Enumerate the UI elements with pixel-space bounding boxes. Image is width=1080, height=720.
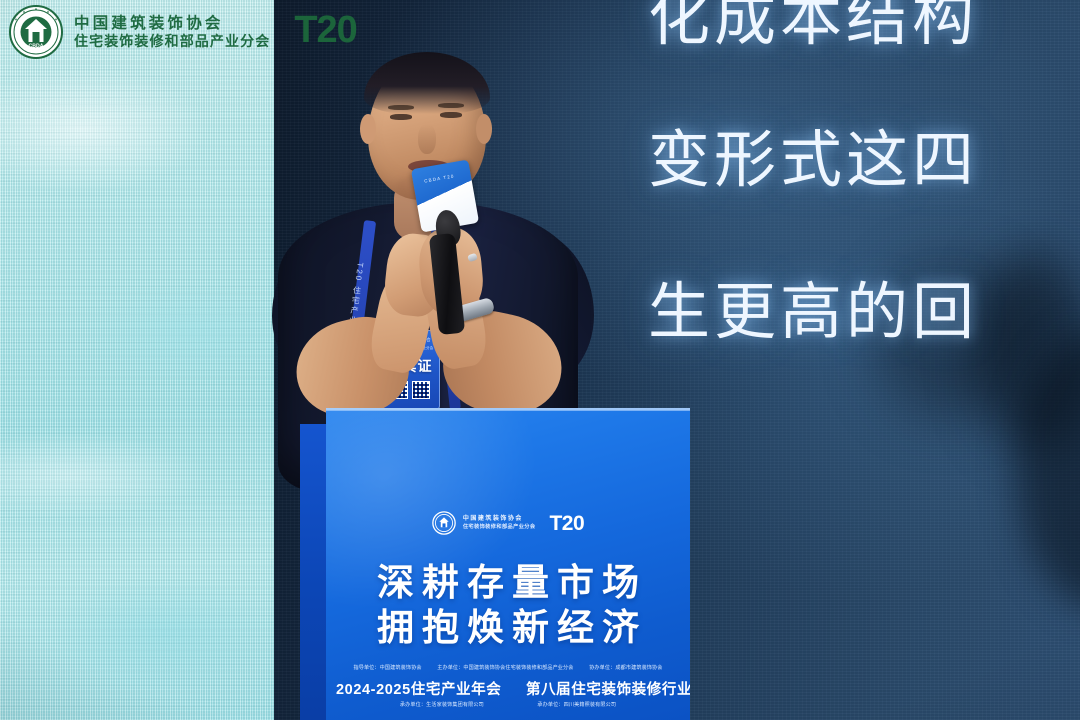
podium-t20-brand-mark: T20 bbox=[549, 513, 584, 534]
header-logo-lockup: CBDA 中国建筑装饰协会 住宅装饰装修和部品产业分会 T20 bbox=[8, 4, 357, 60]
podium-credit-coorganizer: 协办单位：成都市建筑装饰协会 bbox=[589, 665, 662, 671]
podium-association-line-2: 住宅装饰装修和部品产业分会 bbox=[463, 524, 536, 531]
screen-subtitle-line-1: 化成本结构 bbox=[648, 0, 978, 50]
t20-brand-mark: T20 bbox=[294, 11, 356, 49]
svg-text:CBDA: CBDA bbox=[29, 44, 44, 50]
led-wall-left-cyan bbox=[0, 0, 274, 720]
podium-headline-line-1: 深耕存量市场 bbox=[326, 560, 690, 605]
podium-event-titles: 2024-2025住宅产业年会 第八届住宅装饰装修行业T20大会 bbox=[326, 678, 690, 699]
microphone-body bbox=[429, 233, 465, 335]
association-line-1: 中国建筑装饰协会 bbox=[74, 15, 270, 33]
speaker-podium: 中国建筑装饰协会 住宅装饰装修和部品产业分会 T20 深耕存量市场 拥抱焕新经济… bbox=[300, 408, 690, 720]
podium-association-line-1: 中国建筑装饰协会 bbox=[463, 516, 536, 524]
podium-side-panel bbox=[300, 424, 326, 720]
cbda-seal-icon: CBDA bbox=[8, 4, 64, 60]
association-name: 中国建筑装饰协会 住宅装饰装修和部品产业分会 bbox=[74, 15, 270, 50]
podium-credit-host: 主办单位：中国建筑装饰协会住宅装饰装修和部品产业分会 bbox=[437, 665, 573, 671]
podium-cbda-seal-icon bbox=[432, 511, 456, 535]
screen-subtitle-line-3: 生更高的回 bbox=[648, 282, 978, 344]
podium-credit-guidance: 指导单位：中国建筑装饰协会 bbox=[353, 665, 421, 671]
podium-headline: 深耕存量市场 拥抱焕新经济 bbox=[326, 560, 690, 650]
podium-event-title-1: 2024-2025住宅产业年会 bbox=[336, 682, 501, 698]
podium-credit-organizer-1: 承办单位：生活家装饰集团有限公司 bbox=[400, 702, 484, 708]
podium-association-name: 中国建筑装饰协会 住宅装饰装修和部品产业分会 bbox=[463, 516, 536, 530]
podium-top-edge-highlight bbox=[326, 408, 690, 411]
podium-front-panel: 中国建筑装饰协会 住宅装饰装修和部品产业分会 T20 深耕存量市场 拥抱焕新经济… bbox=[326, 408, 690, 720]
association-line-2: 住宅装饰装修和部品产业分会 bbox=[74, 33, 270, 50]
handheld-microphone: CBDA T20 bbox=[416, 164, 476, 334]
podium-credits-bottom: 承办单位：生活家装饰集团有限公司 承办单位：四川美籍照装有限公司 bbox=[326, 701, 690, 708]
podium-event-title-2: 第八届住宅装饰装修行业T20大会 bbox=[526, 682, 690, 698]
podium-headline-line-2: 拥抱焕新经济 bbox=[326, 605, 690, 650]
podium-credit-organizer-2: 承办单位：四川美籍照装有限公司 bbox=[537, 702, 616, 708]
led-cyan-scanlines bbox=[0, 0, 274, 720]
podium-logo-lockup: 中国建筑装饰协会 住宅装饰装修和部品产业分会 T20 bbox=[326, 511, 690, 535]
podium-credits-top: 指导单位：中国建筑装饰协会 主办单位：中国建筑装饰协会住宅装饰装修和部品产业分会… bbox=[326, 664, 690, 671]
screen-subtitle-line-2: 变形式这四 bbox=[648, 130, 978, 192]
qr-code-icon bbox=[412, 381, 430, 399]
conference-stage-photo: 化成本结构 变形式这四 生更高的回 CBDA bbox=[0, 0, 1080, 720]
